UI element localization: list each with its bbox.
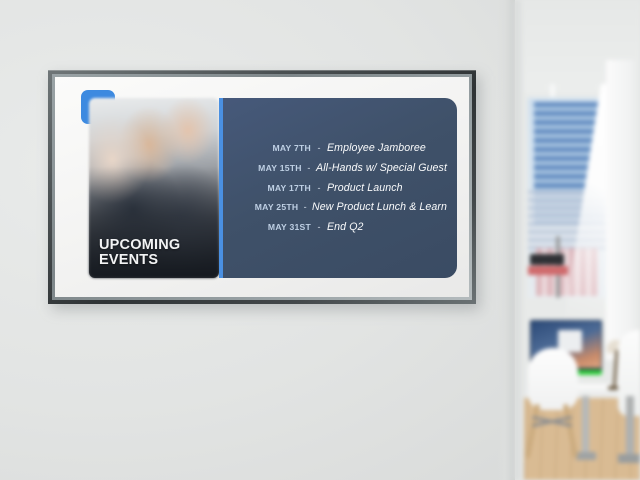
page-title-line1: UPCOMING	[99, 238, 211, 253]
desk-leg-left	[582, 396, 589, 458]
desk-leg-right	[626, 396, 634, 458]
event-date: MAY 31ST	[223, 223, 311, 232]
page-title-line2: EVENTS	[99, 253, 211, 268]
event-separator: -	[311, 223, 327, 232]
event-name: New Product Lunch & Learn	[312, 202, 447, 213]
picture-frame[interactable]: UPCOMING EVENTS MAY 7TH - Employee Jambo…	[48, 70, 476, 304]
doorway-jamb	[514, 0, 524, 480]
desk-foot-right	[618, 454, 640, 463]
event-separator: -	[311, 144, 327, 153]
list-item: MAY 25TH - New Product Lunch & Learn	[223, 198, 447, 218]
event-date: MAY 7TH	[223, 144, 311, 153]
background-office	[514, 0, 640, 480]
event-name: All-Hands w/ Special Guest	[316, 163, 447, 174]
event-photo-overlay-wrap: UPCOMING EVENTS	[89, 98, 219, 278]
list-item: MAY 7TH - Employee Jamboree	[223, 139, 447, 159]
shelf-dark	[530, 254, 564, 265]
event-date: MAY 25TH	[223, 203, 298, 212]
list-item: MAY 31ST - End Q2	[223, 218, 447, 238]
event-separator: -	[302, 164, 316, 173]
event-date: MAY 15TH	[223, 164, 302, 173]
shelf-red	[528, 266, 568, 275]
ceiling-light-icon	[550, 84, 555, 97]
list-item: MAY 15TH - All-Hands w/ Special Guest	[223, 158, 447, 178]
desk-foot-left	[576, 452, 596, 460]
frame-bevel: UPCOMING EVENTS MAY 7TH - Employee Jambo…	[52, 74, 472, 300]
event-name: Product Launch	[327, 183, 403, 194]
room-scene: UPCOMING EVENTS MAY 7TH - Employee Jambo…	[0, 0, 640, 480]
event-separator: -	[298, 203, 312, 212]
office-pillar	[606, 60, 640, 360]
event-separator: -	[311, 184, 327, 193]
events-list: MAY 7TH - Employee Jamboree MAY 15TH - A…	[223, 139, 447, 238]
wall-edge	[497, 0, 515, 480]
page-title: UPCOMING EVENTS	[99, 238, 211, 268]
events-panel: MAY 7TH - Employee Jamboree MAY 15TH - A…	[219, 98, 457, 278]
event-date: MAY 17TH	[223, 184, 311, 193]
frame-mat: UPCOMING EVENTS MAY 7TH - Employee Jambo…	[55, 77, 469, 297]
signage-slide: UPCOMING EVENTS MAY 7TH - Employee Jambo…	[67, 86, 457, 288]
event-name: End Q2	[327, 222, 364, 233]
event-name: Employee Jamboree	[327, 143, 426, 154]
white-chair-seat	[528, 348, 578, 410]
list-item: MAY 17TH - Product Launch	[223, 178, 447, 198]
